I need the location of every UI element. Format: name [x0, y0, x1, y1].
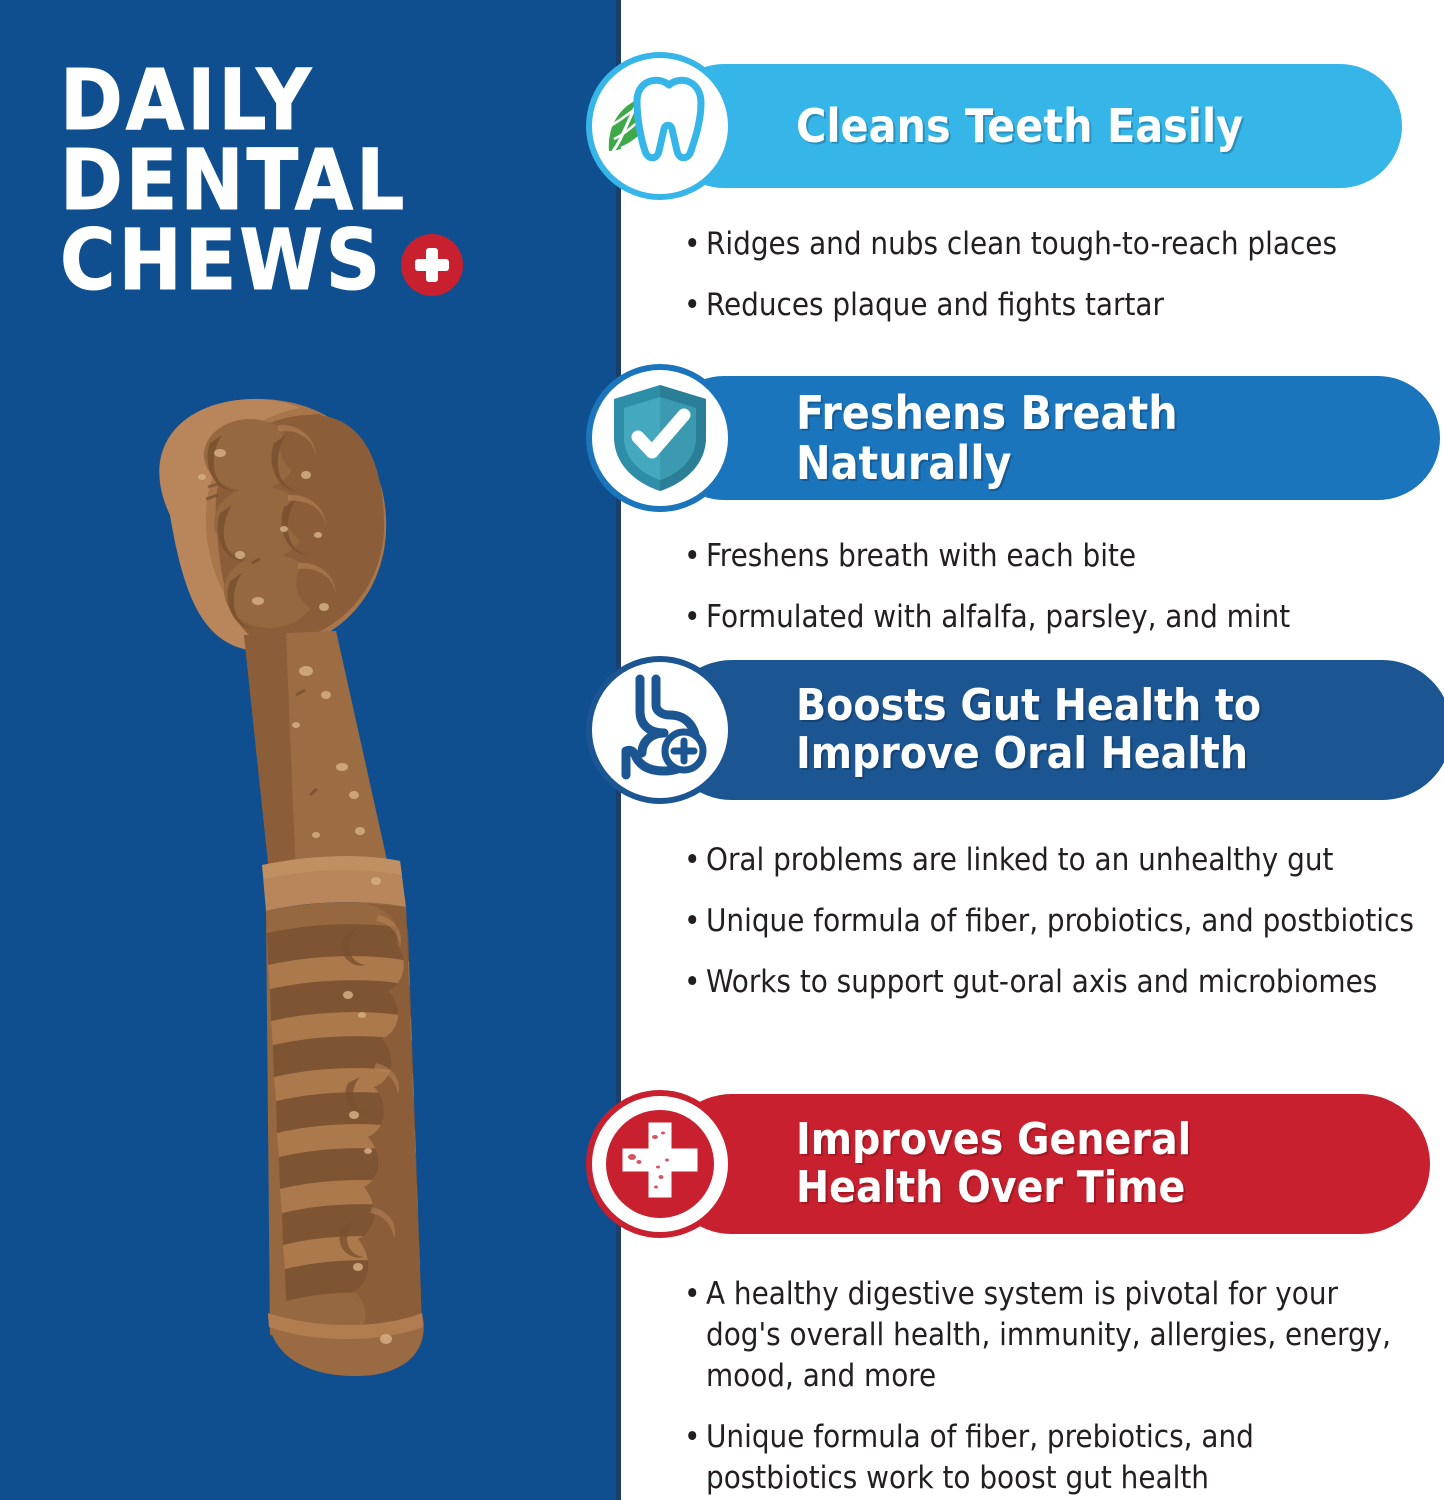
bullet-text: Reduces plaque and fights tartar — [706, 285, 1444, 326]
section-heading-line-2: Improve Oral Health — [796, 730, 1261, 778]
title-line-3: CHEWS — [60, 220, 383, 300]
bullet-marker: • — [684, 901, 706, 942]
shield-check-icon — [586, 364, 734, 512]
benefit-bullet-list: • Ridges and nubs clean tough-to-reach p… — [684, 224, 1444, 346]
section-heading: Freshens Breath Naturally — [796, 388, 1404, 488]
dental-chew-illustration — [110, 395, 510, 1380]
list-item: • Formulated with alfalfa, parsley, and … — [684, 597, 1444, 638]
bullet-text: Ridges and nubs clean tough-to-reach pla… — [706, 224, 1444, 265]
list-item: • Unique formula of fiber, probiotics, a… — [684, 901, 1444, 942]
bullet-marker: • — [684, 962, 706, 1003]
title-line-2: DENTAL — [60, 140, 600, 220]
bullet-text: A healthy digestive system is pivotal fo… — [706, 1274, 1404, 1397]
list-item: • A healthy digestive system is pivotal … — [684, 1274, 1404, 1397]
medical-cross-icon — [401, 234, 463, 296]
bullet-text: Unique formula of fiber, prebiotics, and… — [706, 1417, 1404, 1499]
bullet-text: Oral problems are linked to an unhealthy… — [706, 840, 1444, 881]
list-item: • Ridges and nubs clean tough-to-reach p… — [684, 224, 1444, 265]
section-header-bar: Freshens Breath Naturally — [662, 376, 1440, 500]
section-heading-line-2: Health Over Time — [796, 1164, 1191, 1212]
stomach-plus-icon — [586, 656, 734, 804]
benefit-bullet-list: • Oral problems are linked to an unhealt… — [684, 840, 1444, 1023]
section-header-bar: Cleans Teeth Easily — [662, 64, 1402, 188]
bullet-text: Formulated with alfalfa, parsley, and mi… — [706, 597, 1444, 638]
list-item: • Oral problems are linked to an unhealt… — [684, 840, 1444, 881]
bullet-marker: • — [684, 536, 706, 577]
bullet-text: Works to support gut-oral axis and micro… — [706, 962, 1444, 1003]
title-line-1: DAILY — [60, 60, 600, 140]
section-heading: Cleans Teeth Easily — [796, 101, 1243, 151]
title-line-3-row: CHEWS — [60, 220, 600, 300]
benefits-column: Cleans Teeth Easily • Ridges and nubs cl… — [616, 0, 1444, 1500]
section-heading-line-1: Improves General — [796, 1116, 1191, 1164]
list-item: • Freshens breath with each bite — [684, 536, 1444, 577]
section-heading-line-1: Boosts Gut Health to — [796, 682, 1261, 730]
bullet-text: Unique formula of fiber, probiotics, and… — [706, 901, 1444, 942]
section-header-bar: Improves General Health Over Time — [662, 1094, 1430, 1234]
bullet-marker: • — [684, 285, 706, 326]
list-item: • Unique formula of fiber, prebiotics, a… — [684, 1417, 1404, 1499]
bullet-marker: • — [684, 1274, 706, 1397]
bullet-marker: • — [684, 1417, 706, 1499]
tooth-mint-icon — [586, 52, 734, 200]
benefit-bullet-list: • Freshens breath with each bite • Formu… — [684, 536, 1444, 658]
page-title: DAILY DENTAL CHEWS — [60, 60, 600, 300]
medical-cross-circle-icon — [586, 1090, 734, 1238]
bullet-text: Freshens breath with each bite — [706, 536, 1444, 577]
section-header-bar: Boosts Gut Health to Improve Oral Health — [662, 660, 1444, 800]
list-item: • Reduces plaque and fights tartar — [684, 285, 1444, 326]
list-item: • Works to support gut-oral axis and mic… — [684, 962, 1444, 1003]
benefit-bullet-list: • A healthy digestive system is pivotal … — [684, 1274, 1404, 1500]
bullet-marker: • — [684, 840, 706, 881]
bullet-marker: • — [684, 224, 706, 265]
bullet-marker: • — [684, 597, 706, 638]
infographic-page: DAILY DENTAL CHEWS — [0, 0, 1444, 1500]
